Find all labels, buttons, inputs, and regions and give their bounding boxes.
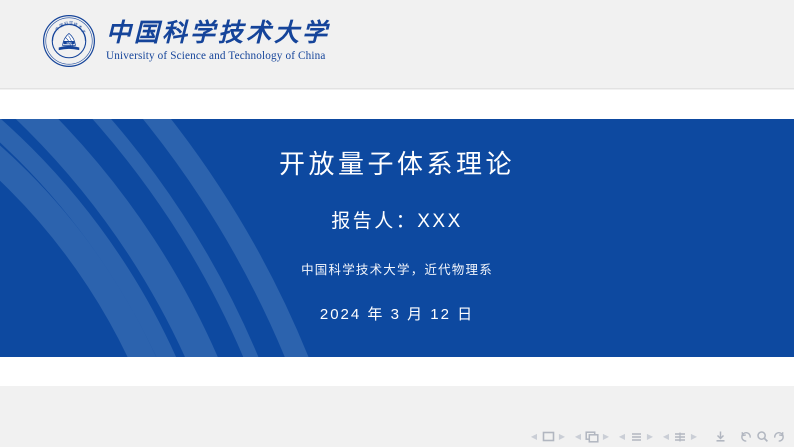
document-viewer: 中 国 科 学 技 术 大 1958 中国科学技术大学 University o…	[0, 0, 794, 447]
bottom-toolbar: ◀ ▶ ◀ ▶ ◀	[0, 386, 794, 447]
continuous-scroll-glyph	[630, 431, 643, 443]
two-page-glyph	[585, 431, 599, 443]
university-logo: 中 国 科 学 技 术 大 1958 中国科学技术大学 University o…	[42, 14, 330, 68]
svg-text:科: 科	[63, 20, 68, 27]
continuous-scroll-icon[interactable]	[628, 429, 644, 444]
slide-content: 开放量子体系理论 报告人：XXX 中国科学技术大学，近代物理系 2024 年 3…	[0, 119, 794, 357]
two-page-view-group[interactable]: ◀ ▶	[570, 429, 614, 444]
two-page-view-icon[interactable]	[584, 429, 600, 444]
slide-date: 2024 年 3 月 12 日	[320, 303, 474, 324]
download-icon[interactable]	[712, 429, 728, 444]
ustc-seal-emblem-icon: 中 国 科 学 技 术 大 1958	[42, 14, 96, 68]
next-arrow-icon[interactable]: ▶	[690, 430, 698, 444]
prev-arrow-icon[interactable]: ◀	[574, 430, 582, 444]
magnifier-icon[interactable]	[754, 429, 770, 444]
book-view-icon[interactable]	[672, 429, 688, 444]
logo-chinese-name: 中国科学技术大学	[106, 20, 330, 49]
single-page-glyph	[542, 431, 555, 442]
slide-affiliation: 中国科学技术大学，近代物理系	[301, 259, 493, 278]
svg-text:学: 学	[69, 20, 73, 26]
slide-title: 开放量子体系理论	[279, 149, 515, 180]
page-sheet: 开放量子体系理论 报告人：XXX 中国科学技术大学，近代物理系 2024 年 3…	[0, 90, 794, 386]
rotate-right-glyph	[772, 430, 785, 443]
next-arrow-icon[interactable]: ▶	[602, 430, 610, 444]
book-view-group[interactable]: ◀ ▶	[658, 429, 702, 444]
logo-english-name: University of Science and Technology of …	[106, 50, 330, 62]
single-page-view-icon[interactable]	[540, 429, 556, 444]
single-page-view-group[interactable]: ◀ ▶	[526, 429, 570, 444]
prev-arrow-icon[interactable]: ◀	[662, 430, 670, 444]
magnifier-glyph	[756, 430, 769, 443]
continuous-scroll-view-group[interactable]: ◀ ▶	[614, 429, 658, 444]
svg-text:大: 大	[81, 27, 88, 34]
rotate-right-icon[interactable]	[770, 429, 786, 444]
next-arrow-icon[interactable]: ▶	[646, 430, 654, 444]
slide-presenter: 报告人：XXX	[331, 206, 463, 233]
document-header: 中 国 科 学 技 术 大 1958 中国科学技术大学 University o…	[0, 0, 794, 89]
title-slide: 开放量子体系理论 报告人：XXX 中国科学技术大学，近代物理系 2024 年 3…	[0, 119, 794, 357]
rotate-left-glyph	[740, 430, 753, 443]
rotate-left-icon[interactable]	[738, 429, 754, 444]
prev-arrow-icon[interactable]: ◀	[530, 430, 538, 444]
next-arrow-icon[interactable]: ▶	[558, 430, 566, 444]
view-controls-cluster: ◀ ▶ ◀ ▶ ◀	[526, 429, 786, 444]
download-glyph	[714, 430, 727, 443]
book-view-glyph	[673, 431, 687, 443]
prev-arrow-icon[interactable]: ◀	[618, 430, 626, 444]
logo-text-block: 中国科学技术大学 University of Science and Techn…	[106, 20, 330, 62]
svg-text:1958: 1958	[66, 42, 72, 45]
